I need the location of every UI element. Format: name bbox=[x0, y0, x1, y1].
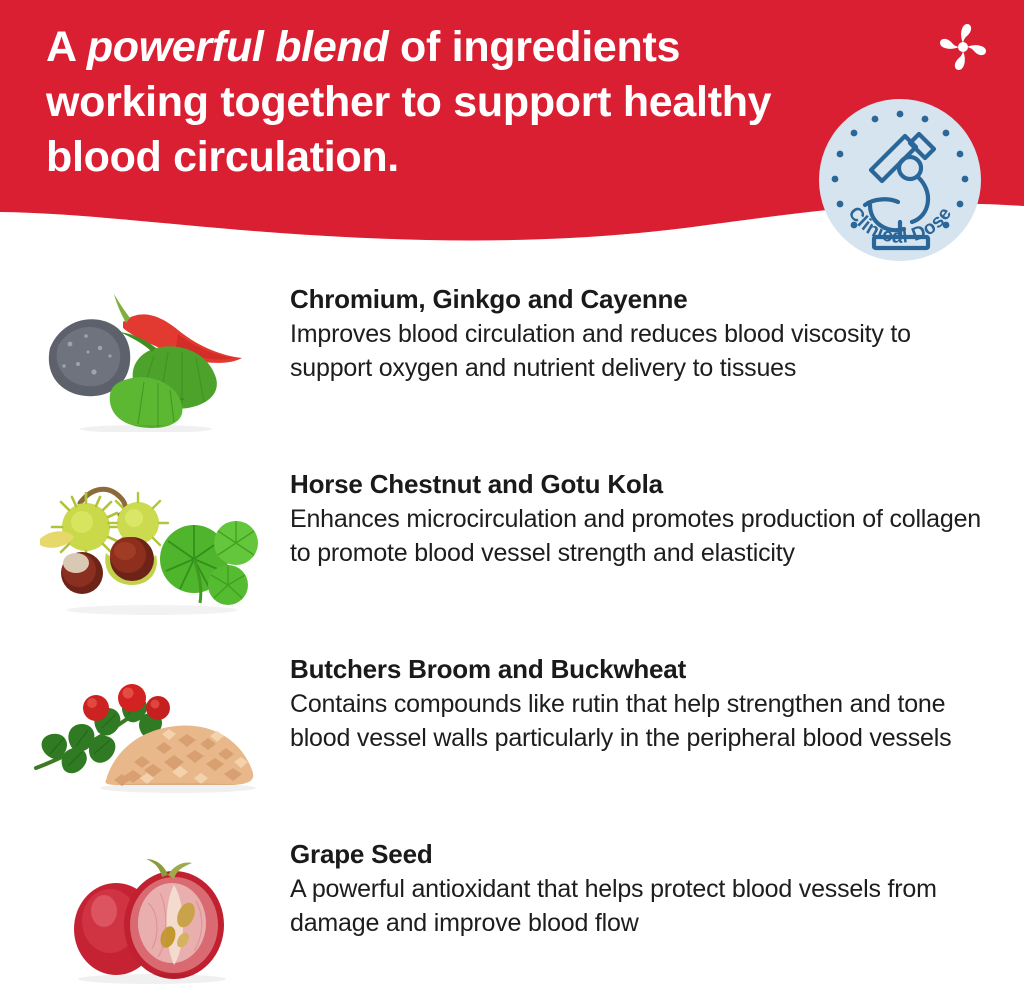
ingredient-description: Enhances microcirculation and promotes p… bbox=[290, 502, 984, 571]
ingredient-title: Chromium, Ginkgo and Cayenne bbox=[290, 284, 984, 315]
ingredient-image-grape-seed bbox=[0, 825, 290, 1000]
ingredient-image-chromium-ginkgo-cayenne bbox=[0, 270, 290, 445]
list-item: Grape Seed A powerful antioxidant that h… bbox=[0, 825, 1024, 1005]
clinical-dose-badge: Clinical Dose bbox=[818, 98, 982, 262]
list-item: Butchers Broom and Buckwheat Contains co… bbox=[0, 640, 1024, 825]
page-title-segment-1: A bbox=[46, 23, 87, 71]
four-petal-flourish-icon bbox=[932, 16, 994, 78]
ingredient-description: A powerful antioxidant that helps protec… bbox=[290, 872, 984, 941]
page-title-emphasis: powerful blend bbox=[87, 23, 389, 71]
ingredient-image-butchers-broom-buckwheat bbox=[0, 640, 290, 815]
ingredient-image-horse-chestnut-gotu-kola bbox=[0, 455, 290, 630]
header-banner: A powerful blend of ingredients working … bbox=[0, 0, 1024, 262]
list-item: Chromium, Ginkgo and Cayenne Improves bl… bbox=[0, 270, 1024, 455]
ingredient-title: Butchers Broom and Buckwheat bbox=[290, 654, 984, 685]
ingredient-description: Improves blood circulation and reduces b… bbox=[290, 317, 984, 386]
page-title: A powerful blend of ingredients working … bbox=[46, 20, 846, 185]
ingredient-title: Horse Chestnut and Gotu Kola bbox=[290, 469, 984, 500]
ingredient-title: Grape Seed bbox=[290, 839, 984, 870]
ingredient-description: Contains compounds like rutin that help … bbox=[290, 687, 984, 756]
list-item: Horse Chestnut and Gotu Kola Enhances mi… bbox=[0, 455, 1024, 640]
ingredient-list: Chromium, Ginkgo and Cayenne Improves bl… bbox=[0, 270, 1024, 1005]
